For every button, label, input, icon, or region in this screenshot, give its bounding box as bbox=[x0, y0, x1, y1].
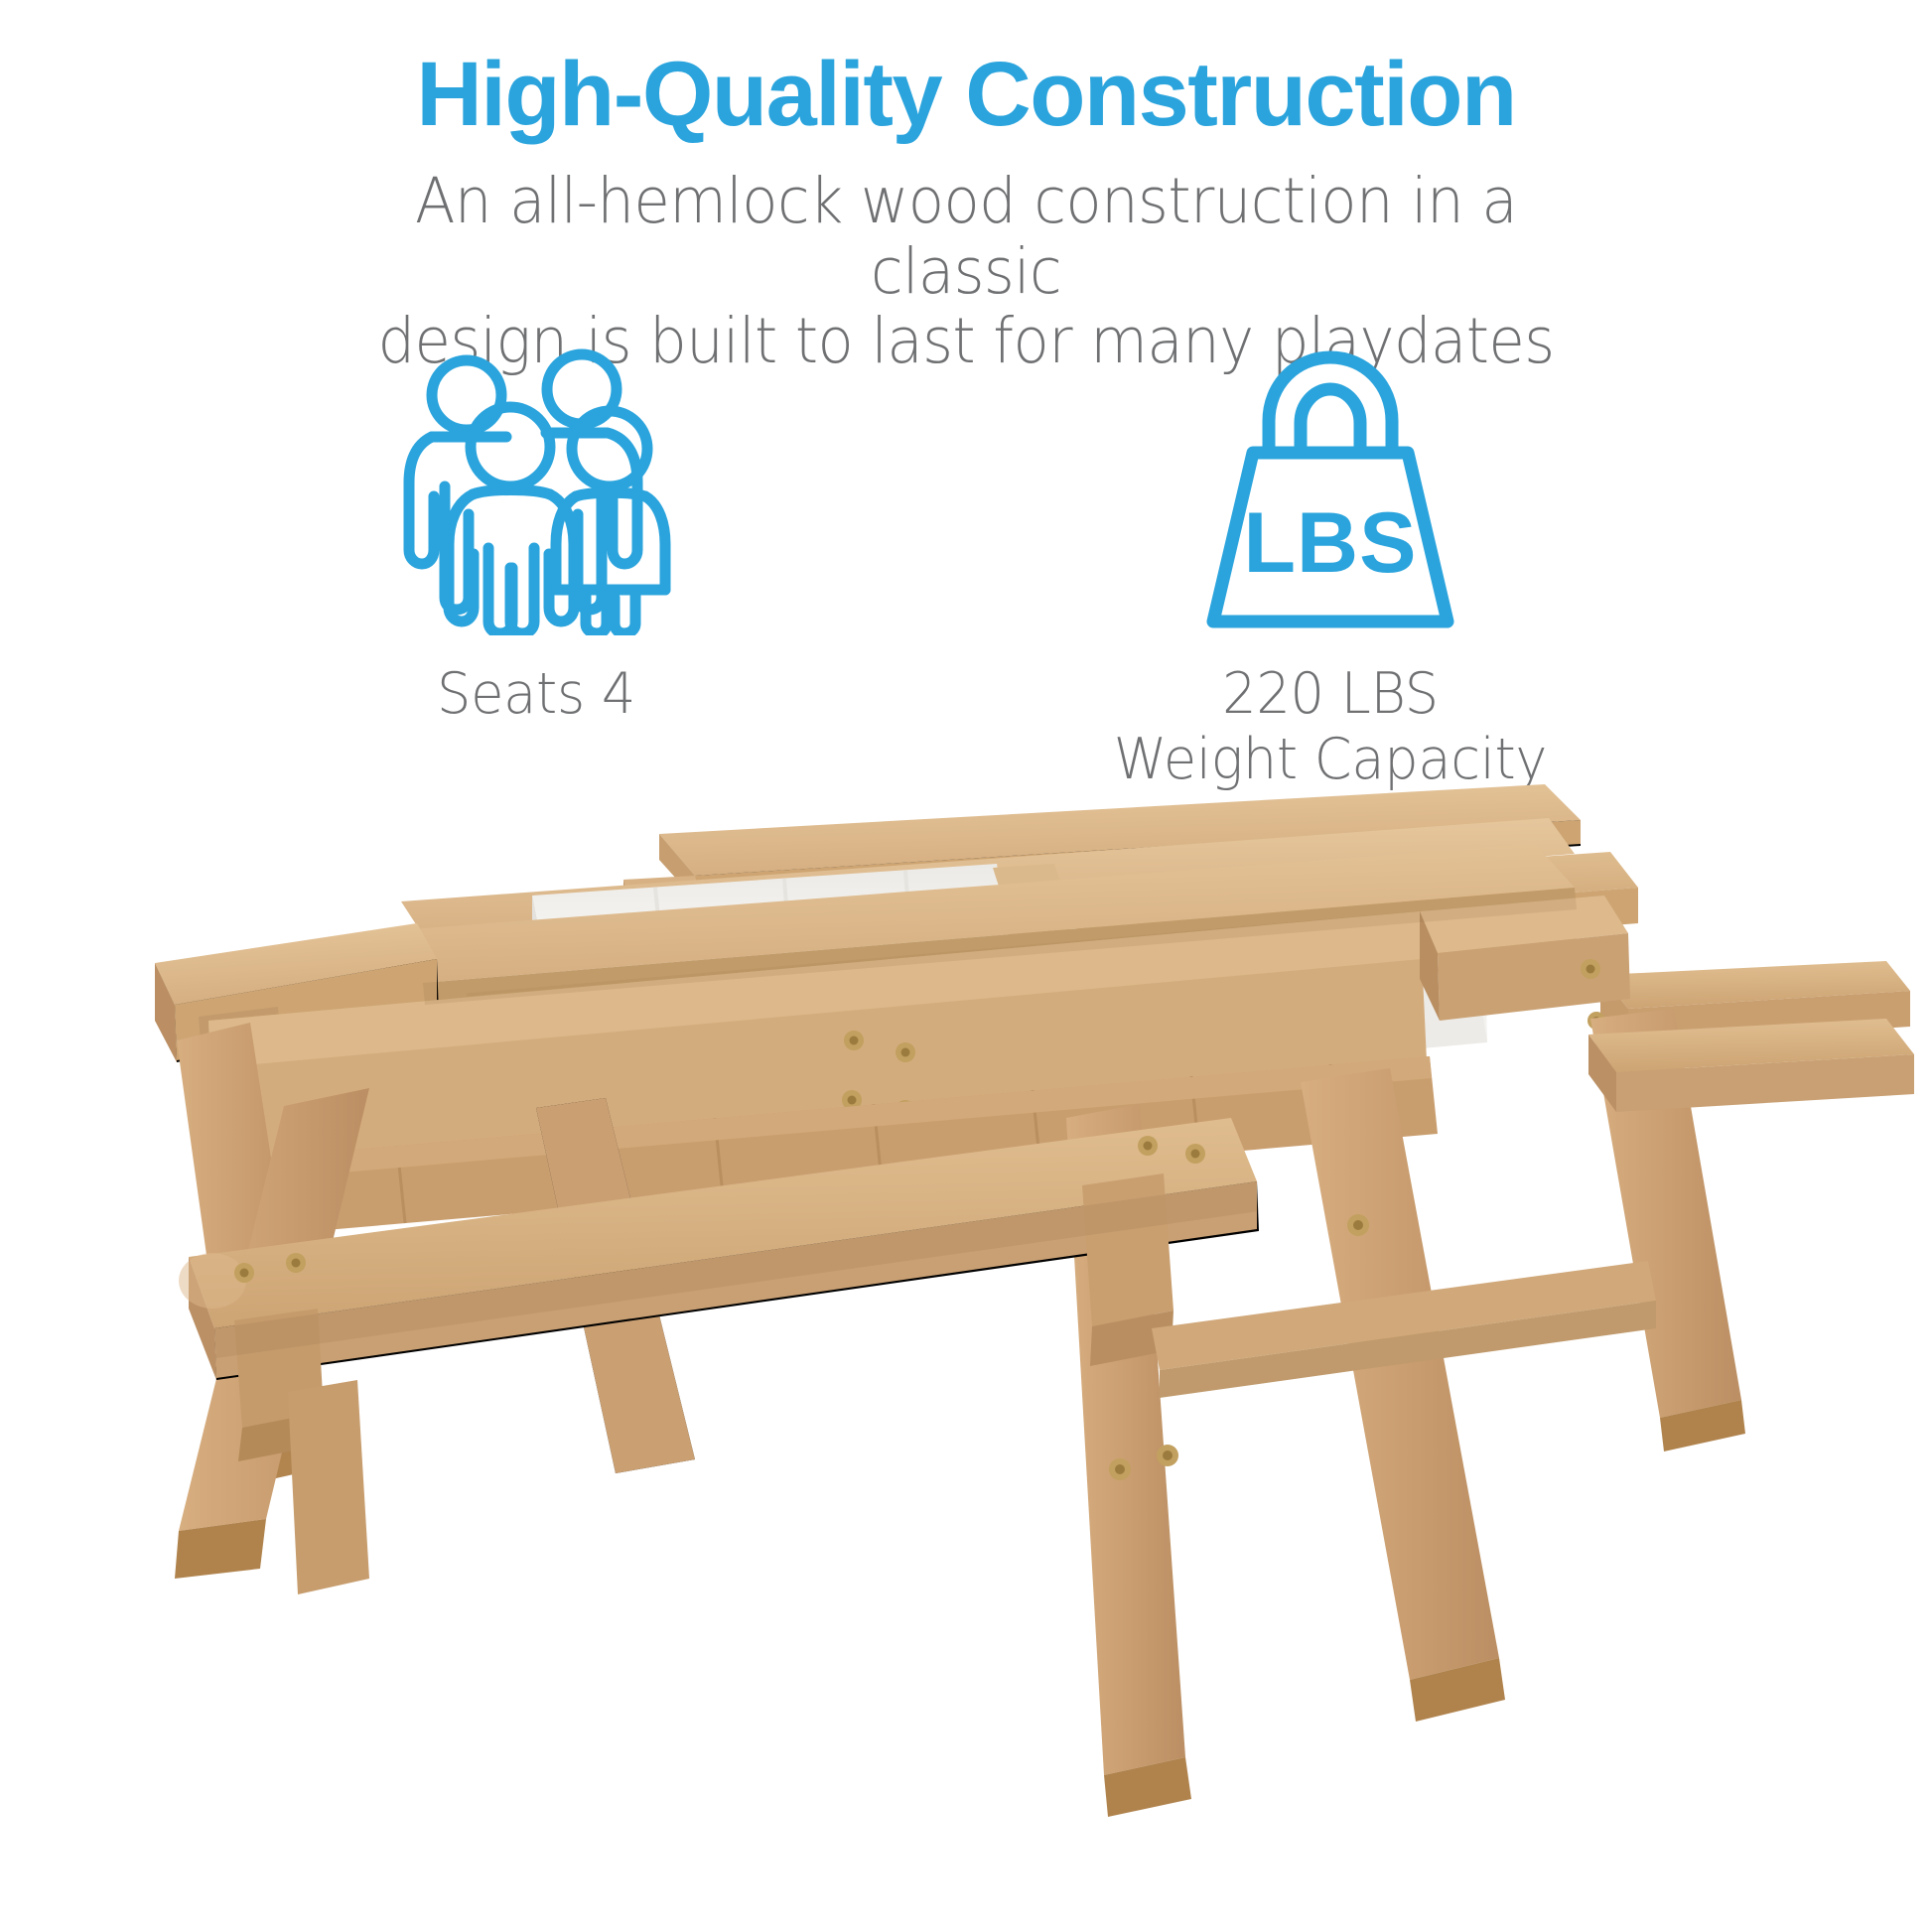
people-group-icon bbox=[218, 338, 854, 635]
feature-weight-caption-line-2: Weight Capacity bbox=[1029, 727, 1632, 792]
feature-weight: LBS 220 LBS Weight Capacity bbox=[1013, 338, 1648, 792]
bench-stretcher-left bbox=[288, 1380, 369, 1594]
bench-right-seat bbox=[1588, 1019, 1914, 1112]
feature-seats-caption: Seats 4 bbox=[234, 661, 838, 727]
weight-bag-icon: LBS bbox=[1013, 338, 1648, 635]
page-title: High-Quality Construction bbox=[0, 48, 1932, 143]
picnic-table-illustration bbox=[0, 784, 1932, 1932]
feature-seats-caption-line-1: Seats 4 bbox=[234, 661, 838, 727]
leg-front-right bbox=[1301, 1068, 1505, 1722]
page-subtitle-line-1: An all-hemlock wood construction in a cl… bbox=[313, 167, 1619, 307]
product-image bbox=[0, 784, 1932, 1932]
feature-weight-caption: 220 LBS Weight Capacity bbox=[1029, 661, 1632, 792]
feature-weight-caption-line-1: 220 LBS bbox=[1029, 661, 1632, 727]
feature-row: Seats 4 LBS 220 LBS bbox=[0, 338, 1932, 814]
weight-icon-label: LBS bbox=[1244, 495, 1418, 591]
infographic-page: High-Quality Construction An all-hemlock… bbox=[0, 0, 1932, 1932]
feature-seats: Seats 4 bbox=[218, 338, 854, 727]
